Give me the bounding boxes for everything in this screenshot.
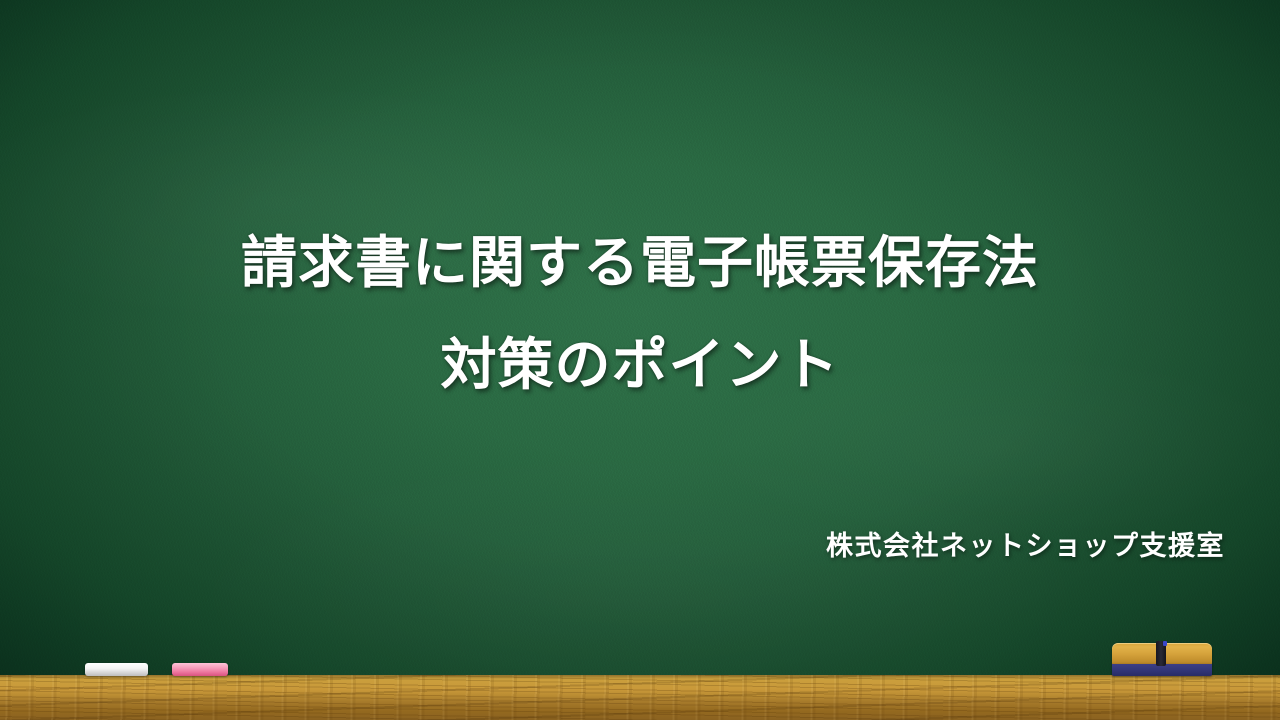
company-credit: 株式会社ネットショップ支援室	[826, 524, 1225, 563]
blackboard-eraser-icon	[1112, 643, 1212, 676]
white-chalk-icon	[85, 663, 148, 676]
eraser-strap-tip	[1163, 641, 1167, 646]
pink-chalk-icon	[172, 663, 228, 676]
slide-title-line-1: 請求書に関する電子帳票保存法	[0, 212, 1280, 314]
chalk-ledge	[0, 675, 1280, 720]
title-slide: 請求書に関する電子帳票保存法 対策のポイント 株式会社ネットショップ支援室	[0, 0, 1280, 720]
slide-title: 請求書に関する電子帳票保存法 対策のポイント	[0, 212, 1280, 416]
slide-title-line-2: 対策のポイント	[0, 314, 1280, 416]
chalk-ledge-wood-grain	[0, 675, 1280, 720]
